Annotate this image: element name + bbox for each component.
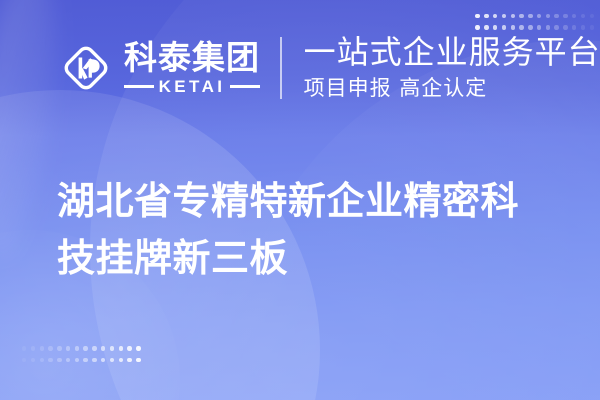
brand-name-cn: 科泰集团 xyxy=(124,41,260,75)
vertical-divider xyxy=(280,37,282,99)
tagline-secondary: 项目申报 高企认定 xyxy=(304,75,600,101)
dot xyxy=(127,358,131,362)
dot xyxy=(110,358,114,362)
dot xyxy=(48,346,52,350)
brand-logo[interactable]: 科泰集团 KETAI xyxy=(57,39,260,97)
dot xyxy=(136,346,140,350)
dot xyxy=(136,358,140,362)
dot xyxy=(127,346,131,350)
dot xyxy=(48,358,52,362)
brand-name-en-row: KETAI xyxy=(124,78,260,95)
tagline-primary: 一站式企业服务平台 xyxy=(304,35,600,71)
dot xyxy=(31,346,35,350)
dot-grid-row xyxy=(22,358,141,362)
dot xyxy=(66,346,70,350)
dot xyxy=(92,358,96,362)
dot xyxy=(75,358,79,362)
dot xyxy=(101,358,105,362)
dot xyxy=(22,358,26,362)
dot-grid-icon-bottom xyxy=(22,346,141,362)
banner-header: 科泰集团 KETAI 一站式企业服务平台 项目申报 高企认定 xyxy=(0,0,600,136)
dot xyxy=(92,346,96,350)
dot xyxy=(83,358,87,362)
dot xyxy=(22,346,26,350)
promo-banner: 科泰集团 KETAI 一站式企业服务平台 项目申报 高企认定 湖北省专精特新企业… xyxy=(0,0,600,400)
dot xyxy=(110,346,114,350)
dot xyxy=(83,346,87,350)
dot xyxy=(57,358,61,362)
brand-wordmark: 科泰集团 KETAI xyxy=(124,41,260,95)
dot xyxy=(119,358,123,362)
dot xyxy=(40,346,44,350)
wordmark-rule-left xyxy=(124,85,154,88)
ketai-diamond-monogram-icon xyxy=(57,39,115,97)
page-title: 湖北省专精特新企业精密科技挂牌新三板 xyxy=(57,173,557,285)
dot xyxy=(75,346,79,350)
dot xyxy=(66,358,70,362)
brand-name-en: KETAI xyxy=(159,78,226,95)
dot xyxy=(119,346,123,350)
dot xyxy=(57,346,61,350)
dot xyxy=(40,358,44,362)
wordmark-rule-right xyxy=(230,85,260,88)
dot xyxy=(101,346,105,350)
dot-grid-row xyxy=(22,346,141,350)
tagline-block: 一站式企业服务平台 项目申报 高企认定 xyxy=(304,35,600,101)
dot xyxy=(31,358,35,362)
